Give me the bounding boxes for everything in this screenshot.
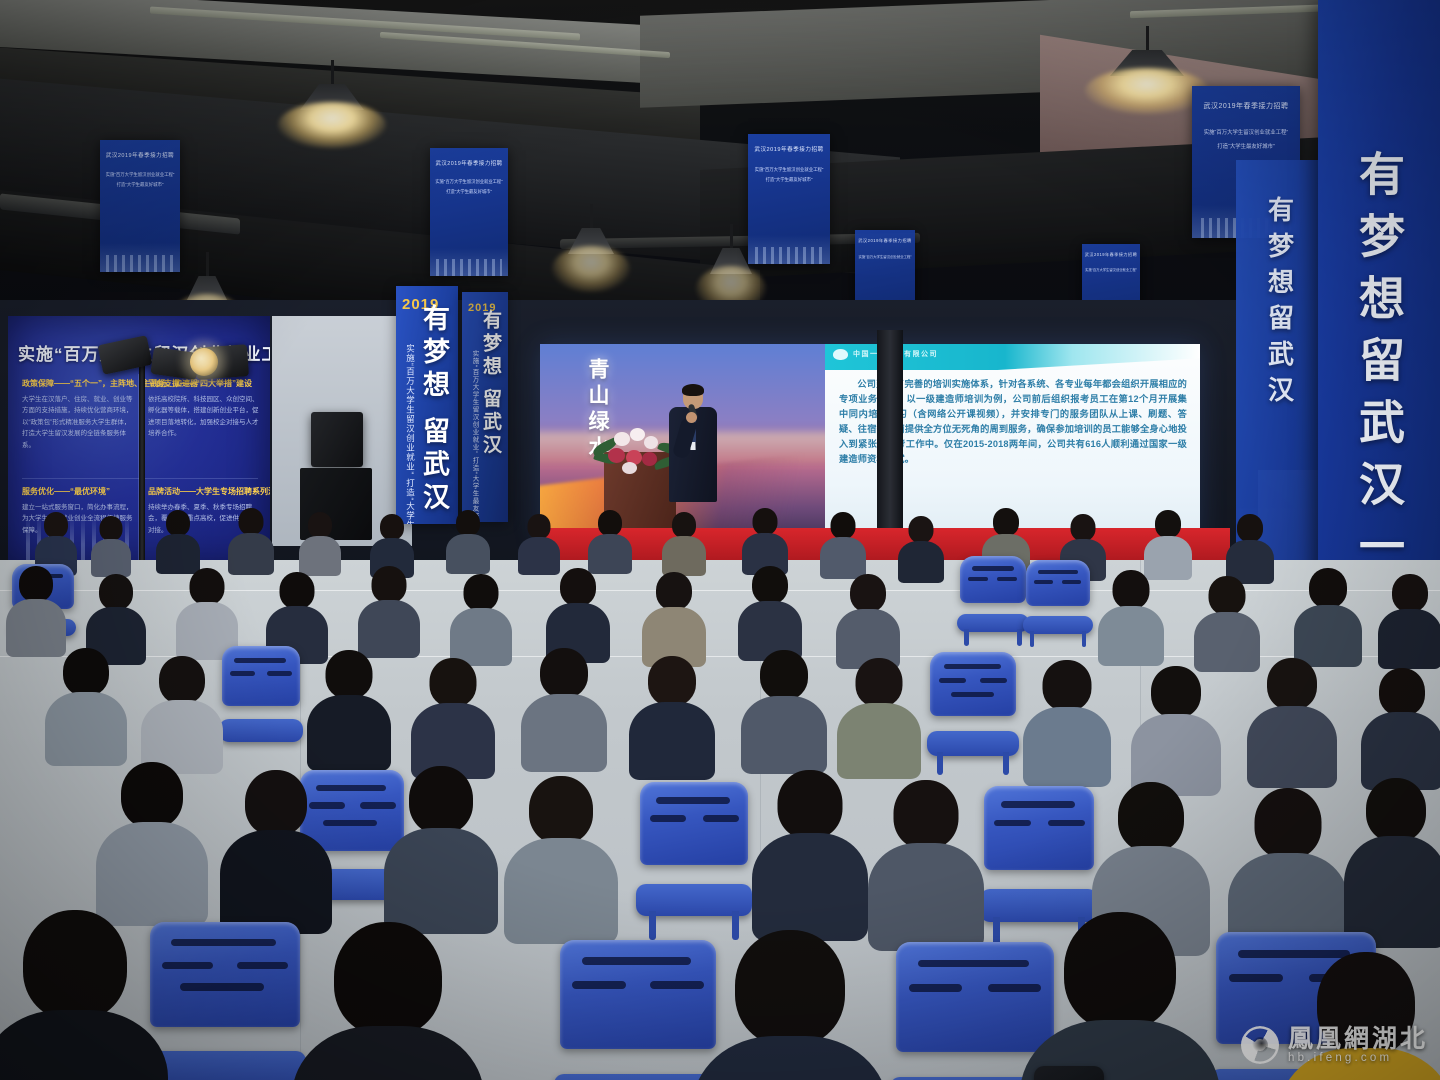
person-head [190, 568, 225, 605]
phoenix-logo-icon [1241, 1026, 1279, 1064]
audience-member [88, 574, 144, 656]
hanging-banner-line2: 实施“百万大学生留汉创业就业工程” [435, 179, 502, 185]
person-head [380, 514, 404, 540]
audience-member [158, 510, 198, 568]
chair-slot [939, 678, 967, 683]
audience-member [548, 568, 608, 654]
person-head [121, 762, 183, 828]
vertical-banner-text: 有梦想留武汉 [1262, 196, 1299, 412]
hanging-banner-line2: 实施“百万大学生留汉创业就业工程” [1204, 128, 1288, 136]
info-board-section: 政策保障——“五个一”，主阵地、主战场、加速器 大学生在汉落户、住房、就业、创业… [22, 378, 134, 451]
person-head [1309, 568, 1347, 608]
watermark: 鳳凰網湖北 hb.ifeng.com [1241, 1026, 1428, 1064]
person-torso [307, 695, 391, 771]
audience-member [48, 648, 124, 756]
chair[interactable] [640, 782, 748, 916]
pendant-lamp [568, 204, 614, 266]
ceiling-area: 武汉2019年春季接力招聘 实施“百万大学生留汉创业就业工程” 打造“大学生最友… [0, 0, 1440, 330]
chair[interactable] [960, 556, 1026, 632]
chair-back [560, 940, 716, 1049]
hanging-banner-line1: 武汉2019年春季接力招聘 [754, 145, 823, 153]
chair-slot [230, 671, 255, 676]
chair-slot [918, 960, 1029, 968]
chair-leg [937, 752, 943, 775]
person-head [894, 780, 959, 849]
watermark-url: hb.ifeng.com [1288, 1052, 1428, 1064]
person-torso [220, 830, 332, 934]
event-photo-scene: 武汉2019年春季接力招聘 实施“百万大学生留汉创业就业工程” 打造“大学生最友… [0, 0, 1440, 1080]
hanging-banner-line1: 武汉2019年春季接力招聘 [435, 159, 502, 167]
chair[interactable] [1026, 560, 1090, 634]
audience-member [1028, 912, 1212, 1080]
audience-member [664, 512, 704, 570]
person-head [372, 566, 407, 603]
person-head [100, 516, 123, 541]
chair-slot [650, 815, 687, 822]
audience-member [756, 770, 864, 924]
audience-member [900, 516, 942, 576]
chair-slot [162, 962, 213, 969]
skyline-graphic [100, 243, 180, 272]
person-torso [384, 828, 498, 934]
person-head [1071, 514, 1096, 541]
person-head [280, 572, 315, 609]
chair-leg [964, 629, 969, 646]
person-head [63, 648, 109, 696]
person-head [430, 658, 477, 707]
chair-slot [968, 577, 988, 581]
person-head [239, 508, 264, 535]
skyline-graphic [430, 248, 508, 276]
audience-seating-area [0, 470, 1440, 1080]
person-head [648, 656, 696, 706]
chair-slot [980, 678, 1008, 683]
watermark-brand-cn: 鳳凰網湖北 [1288, 1026, 1428, 1052]
person-torso [752, 833, 868, 941]
lamp-glow [278, 102, 386, 148]
presenter-hand [686, 412, 697, 423]
chair-slot [1229, 974, 1283, 982]
chair-slot [1048, 820, 1085, 827]
audience-member [1380, 574, 1440, 660]
chair-slot [180, 983, 264, 990]
person-head [560, 568, 596, 606]
chair-slot [1062, 580, 1081, 584]
lamp-rod [590, 204, 593, 230]
audience-member [372, 514, 412, 572]
hanging-banner-line2: 实施“百万大学生留汉创业就业工程” [858, 254, 911, 259]
person-head [752, 566, 788, 604]
audience-member [840, 658, 918, 768]
flower-bloom [644, 436, 658, 449]
person-head [19, 566, 53, 602]
chair-leg [1030, 631, 1034, 647]
person-head [1155, 510, 1181, 538]
cloud-icon [833, 349, 848, 360]
chair-slot [267, 671, 292, 676]
audience-member [8, 566, 64, 648]
chair-seat [219, 719, 303, 742]
ceiling-hanging-banner: 武汉2019年春季接力招聘 实施“百万大学生留汉创业就业工程” 打造“大学生最友… [100, 140, 180, 272]
person-torso [0, 1010, 168, 1080]
audience-member [414, 658, 492, 768]
pillar-banner-subtext: 实施“百万大学生留汉创业就业” 打造“大学生最友好城市” [469, 350, 480, 480]
hanging-banner-line1: 武汉2019年春季接力招聘 [858, 238, 912, 244]
audience-member [1296, 568, 1360, 658]
person-torso [521, 694, 607, 772]
chair-slot [1034, 580, 1053, 584]
audience-member [388, 766, 494, 918]
person-torso [837, 703, 921, 779]
chair-slot [1038, 570, 1079, 574]
lamp-rod [206, 252, 209, 278]
person-head [598, 510, 622, 536]
audience-member [744, 508, 786, 568]
audience-member [524, 648, 604, 760]
hanging-banner-line1: 武汉2019年春季接力招聘 [106, 151, 174, 159]
person-torso [898, 541, 944, 583]
chair-slot [171, 939, 276, 946]
person-head [1209, 576, 1246, 615]
audience-member [1100, 570, 1162, 658]
hanging-banner-line1: 武汉2019年春季接力招聘 [1203, 101, 1288, 111]
chair-back [1026, 560, 1090, 606]
lamp-glow [1085, 68, 1209, 114]
audience-member [1134, 666, 1218, 782]
person-head [456, 510, 480, 536]
chair[interactable] [222, 646, 300, 742]
watermark-text: 鳳凰網湖北 hb.ifeng.com [1288, 1026, 1428, 1064]
person-head [753, 508, 778, 535]
person-head [1151, 666, 1201, 718]
hanging-banner-line1: 武汉2019年春季接力招聘 [1085, 252, 1137, 258]
audience-member [230, 508, 272, 568]
spotlight-glow [176, 336, 232, 388]
person-head [672, 512, 696, 538]
audience-member [310, 650, 388, 760]
chair-slot [650, 981, 703, 989]
person-torso [868, 843, 984, 951]
audience-member [1348, 778, 1440, 934]
chair-back [984, 786, 1094, 870]
person-head [1043, 660, 1092, 711]
chair-slot [1001, 801, 1076, 808]
hanging-banner-line3: 打造“大学生最友好城市” [1217, 142, 1275, 150]
chair-slot [237, 962, 288, 969]
audience-member [1250, 658, 1334, 774]
person-torso [1378, 609, 1440, 669]
person-head [760, 650, 808, 700]
hanging-banner-line2: 实施“百万大学生留汉创业就业工程” [1085, 267, 1137, 272]
flower-bloom [608, 448, 625, 463]
audience-member [36, 512, 76, 570]
skyline-graphic [748, 235, 830, 264]
pillar-banner-slogan: 有梦想 留武汉 [477, 310, 504, 457]
chair[interactable] [560, 940, 716, 1080]
pa-speaker-cabinet [311, 412, 363, 467]
chair-leg [649, 911, 657, 940]
chair-back [930, 652, 1016, 716]
audience-member [0, 910, 160, 1080]
backpack [1034, 1066, 1104, 1080]
person-head [528, 514, 551, 539]
audience-member [822, 512, 864, 572]
audience-member [300, 922, 476, 1080]
audience-member [448, 510, 488, 568]
chair-slot [234, 658, 285, 663]
lamp-rod [1146, 26, 1149, 52]
hanging-banner-line2: 实施“百万大学生留汉创业就业工程” [106, 172, 175, 178]
hanging-banner-line3: 打造“大学生最友好城市” [117, 182, 164, 188]
chair-back [960, 556, 1026, 603]
chair-back [640, 782, 748, 865]
chair-slot [703, 815, 740, 822]
audience-member [744, 650, 824, 762]
chair-slot [997, 577, 1017, 581]
audience-member [700, 930, 880, 1080]
audience-member [224, 770, 328, 920]
person-head [166, 510, 190, 536]
ceiling-hanging-banner: 武汉2019年春季接力招聘 实施“百万大学生留汉创业就业工程” 打造“大学生最友… [748, 134, 830, 264]
person-head [1392, 574, 1428, 612]
audience-member [520, 514, 558, 570]
hanging-banner-line3: 打造“大学生最友好城市” [766, 177, 813, 183]
person-torso [662, 536, 706, 576]
person-head [856, 658, 903, 707]
audience-member [1196, 576, 1258, 664]
audience-member [872, 780, 980, 934]
hanging-banner-line2: 实施“百万大学生留汉创业就业工程” [755, 167, 824, 173]
chair-slot [909, 984, 963, 992]
person-head [831, 512, 856, 539]
person-head [540, 648, 588, 698]
person-torso [1098, 606, 1164, 666]
person-head [529, 776, 593, 844]
audience-member [1364, 668, 1440, 780]
person-head [1118, 782, 1184, 852]
person-torso [629, 702, 715, 780]
person-torso [1247, 706, 1337, 788]
flower-bloom [614, 432, 630, 446]
chair[interactable] [984, 786, 1094, 922]
audience-member [1228, 514, 1272, 576]
lamp-glow [552, 246, 629, 292]
person-head [1064, 912, 1176, 1030]
audience-member [300, 512, 340, 570]
person-head [308, 512, 332, 538]
chair[interactable] [150, 922, 300, 1080]
person-head [1237, 514, 1263, 542]
lamp-rod [730, 224, 733, 250]
pendant-lamp [300, 60, 364, 150]
chair-leg [1082, 631, 1086, 647]
person-head [409, 766, 473, 834]
lamp-rod [331, 60, 334, 86]
pendant-lamp [710, 224, 752, 282]
person-head [909, 516, 934, 543]
person-head [1267, 658, 1317, 710]
person-torso [299, 536, 341, 576]
chair[interactable] [930, 652, 1016, 756]
audience-member [1232, 788, 1344, 946]
chair-slot [944, 664, 1001, 669]
audience-member [92, 516, 130, 572]
pendant-lamp [1110, 26, 1184, 122]
chair-slot [656, 797, 729, 804]
person-head [1113, 570, 1150, 609]
person-torso [692, 1036, 888, 1080]
person-torso [1023, 707, 1111, 787]
person-head [334, 922, 442, 1036]
person-torso [820, 537, 866, 579]
person-head [464, 574, 499, 611]
flower-bloom [642, 452, 657, 466]
person-head [1379, 668, 1425, 716]
audience-member [838, 574, 898, 660]
audience-member [508, 776, 614, 928]
person-head [850, 574, 886, 612]
audience-member [178, 568, 236, 652]
chair-slot [572, 981, 625, 989]
person-torso [741, 696, 827, 774]
chair-leg [1003, 752, 1009, 775]
chair-slot [972, 566, 1014, 570]
chair-back [222, 646, 300, 706]
audience-member [1026, 660, 1108, 774]
chair-leg [1017, 629, 1022, 646]
person-torso [45, 692, 127, 766]
chair-slot [582, 957, 691, 965]
audience-member [644, 572, 704, 658]
audience-member [632, 656, 712, 768]
chair-slot [994, 820, 1031, 827]
audience-member [740, 566, 800, 652]
chair-back [150, 922, 300, 1027]
hanging-banner-line3: 打造“大学生最友好城市” [446, 189, 492, 195]
chair-seat [554, 1074, 722, 1080]
ceiling-hanging-banner: 武汉2019年春季接力招聘 实施“百万大学生留汉创业就业工程” 打造“大学生最友… [430, 148, 508, 276]
chair-seat [144, 1051, 306, 1080]
person-torso [91, 539, 131, 577]
person-head [993, 508, 1019, 536]
person-head [1255, 788, 1322, 859]
flower-bloom [630, 428, 645, 441]
section-body: 大学生在汉落户、住房、就业、创业等方面的支持措施，持续优化营商环境，以“政策包”… [22, 394, 134, 451]
audience-member [268, 572, 326, 656]
person-torso [504, 838, 618, 944]
audience-member [590, 510, 630, 568]
person-head [44, 512, 68, 538]
audience-member [360, 566, 418, 650]
person-head [1366, 778, 1426, 842]
audience-member [100, 762, 204, 912]
presenter-hair [682, 384, 704, 396]
person-head [99, 574, 133, 610]
chair-slot [323, 820, 377, 826]
audience-member [144, 656, 220, 764]
audience-member [1146, 510, 1190, 572]
person-head [159, 656, 205, 704]
person-head [735, 930, 845, 1046]
section-body: 依托高校院所、科技园区、众创空间、孵化器等载体，搭建创新创业平台，促进项目落地转… [148, 394, 260, 440]
person-head [23, 910, 127, 1020]
chair-slot [951, 692, 994, 697]
person-head [326, 650, 373, 699]
person-torso [446, 534, 490, 574]
person-head [656, 572, 692, 610]
person-head [778, 770, 843, 839]
section-heading: 政策保障——“五个一”，主阵地、主战场、加速器 [22, 378, 134, 389]
person-head [245, 770, 307, 836]
audience-member [452, 574, 510, 658]
person-torso [292, 1026, 484, 1080]
